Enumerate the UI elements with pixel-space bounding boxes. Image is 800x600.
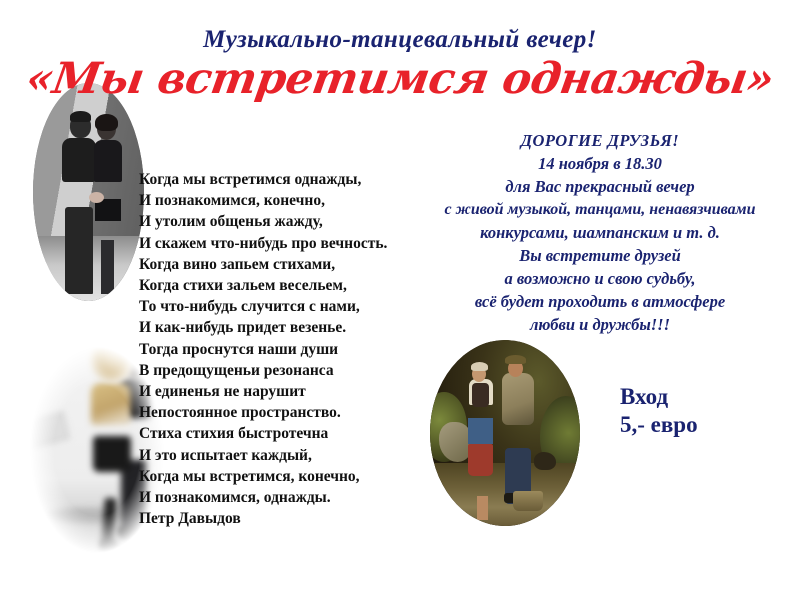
invitation-line: ДОРОГИЕ ДРУЗЬЯ!	[400, 129, 800, 152]
painting-man-body	[502, 373, 534, 425]
dancers-photo-woman-skirt	[93, 436, 131, 472]
poster-canvas: Музыкально-танцевальный вечер! «Мы встре…	[0, 0, 800, 600]
poem-line: Когда мы встретимся, конечно,	[139, 466, 439, 487]
entry-label: Вход	[620, 383, 698, 411]
poem-line: И скажем что-нибудь про вечность.	[139, 233, 439, 254]
couple-photo-joined-hands	[89, 192, 104, 203]
dancers-photo-woman-hair	[91, 335, 135, 381]
entry-fee-block: Вход 5,- евро	[620, 383, 698, 439]
entry-price: 5,- евро	[620, 411, 698, 439]
dancers-photo-woman-top	[91, 383, 131, 425]
couple-photo-woman-hair	[95, 114, 118, 131]
poem-line: И единенья не нарушит	[139, 381, 439, 402]
invitation-line: 14 ноября в 18.30	[400, 152, 800, 175]
invitation-line: любви и дружбы!!!	[400, 313, 800, 336]
poem-line: Стиха стихия быстротечна	[139, 423, 439, 444]
poem-block: Когда мы встретимся однажды, И познакоми…	[139, 169, 439, 529]
poem-line: В предощущеньи резонанса	[139, 360, 439, 381]
painting-woman-skirt	[468, 444, 493, 476]
invitation-line: конкурсами, шампанским и т. д.	[400, 221, 800, 244]
painting-basket	[513, 491, 543, 511]
painting-dog	[534, 452, 556, 470]
painting-man-hat	[505, 355, 526, 364]
painting-woman-leg	[477, 496, 488, 520]
poster-title: Музыкально-танцевальный вечер!	[0, 26, 800, 54]
couple-photo-man-hair	[70, 111, 91, 122]
oval-painting	[430, 340, 580, 526]
couple-photo-woman-legs	[101, 240, 114, 295]
invitation-line: а возможно и свою судьбу,	[400, 267, 800, 290]
invitation-line: всё будет проходить в атмосфере	[400, 290, 800, 313]
poem-line: Непостоянное пространство.	[139, 402, 439, 423]
poem-line: Тогда проснутся наши души	[139, 339, 439, 360]
invitation-line: Вы встретите друзей	[400, 244, 800, 267]
dancers-photo-woman-shoe	[100, 541, 120, 552]
poem-line: И как-нибудь придет везенье.	[139, 317, 439, 338]
poem-line: И познакомимся, конечно,	[139, 190, 439, 211]
poster-script-title: «Мы встретимся однажды»	[0, 54, 800, 104]
poem-line: И познакомимся, однажды.	[139, 487, 439, 508]
poem-line: Когда мы встретимся однажды,	[139, 169, 439, 190]
couple-photo-man-body	[62, 138, 96, 182]
invitation-line: для Вас прекрасный вечер	[400, 175, 800, 198]
couple-photo-man-legs	[65, 207, 93, 294]
poem-line: Когда стихи зальем весельем,	[139, 275, 439, 296]
poem-line: То что-нибудь случится с нами,	[139, 296, 439, 317]
invitation-line: с живой музыкой, танцами, ненавязчивами	[400, 198, 800, 221]
poem-line: Когда вино запьем стихами,	[139, 254, 439, 275]
couple-photo-woman-body	[94, 140, 122, 182]
painting-woman-headscarf	[471, 362, 488, 371]
couple-photo	[33, 83, 144, 301]
invitation-block: ДОРОГИЕ ДРУЗЬЯ! 14 ноября в 18.30 для Ва…	[400, 129, 800, 336]
poem-line: И утолим общенья жажду,	[139, 211, 439, 232]
painting-woman-apron	[468, 418, 493, 444]
painting-woman-vest	[472, 383, 489, 407]
poem-line: И это испытает каждый,	[139, 445, 439, 466]
poem-author: Петр Давыдов	[139, 508, 439, 529]
